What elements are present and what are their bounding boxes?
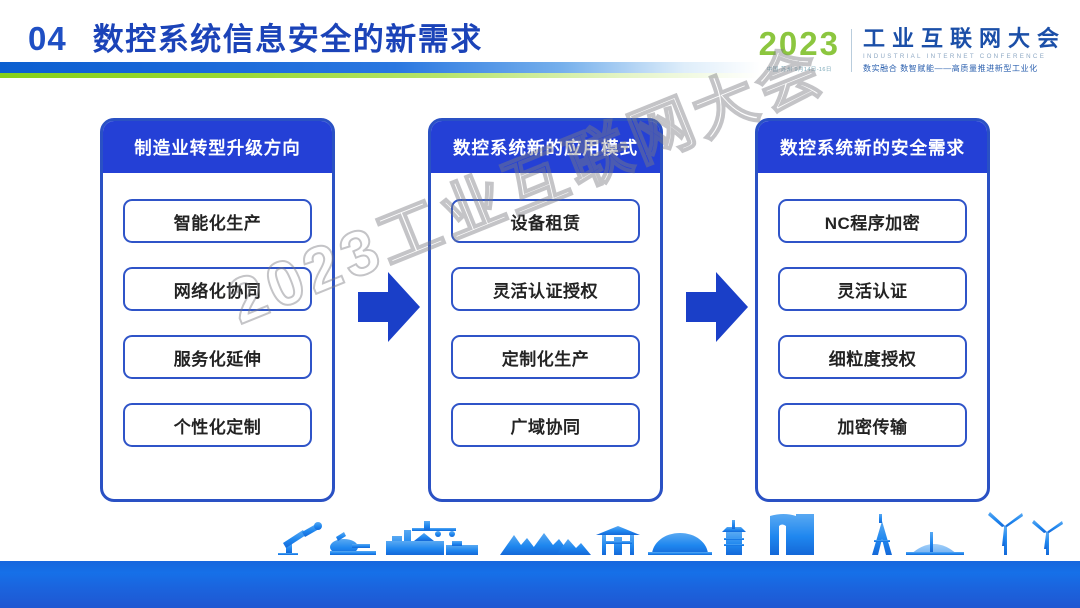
flow-column-1-body: 智能化生产 网络化协同 服务化延伸 个性化定制 xyxy=(103,173,332,447)
flow-item[interactable]: 服务化延伸 xyxy=(123,335,312,379)
flow-item-label: 加密传输 xyxy=(838,413,908,438)
city-skyline-icon xyxy=(0,510,1080,562)
logo-year-block: 2023 中国·苏州 9月14日-16日 xyxy=(759,27,851,73)
flow-item-label: NC程序加密 xyxy=(825,209,921,234)
flow-item[interactable]: 广域协同 xyxy=(451,403,640,447)
flow-item[interactable]: 定制化生产 xyxy=(451,335,640,379)
flow-column-3-header: 数控系统新的安全需求 xyxy=(758,121,987,173)
page-title: 数控系统信息安全的新需求 xyxy=(93,14,483,59)
flow-item-label: 定制化生产 xyxy=(502,345,590,370)
flow-item[interactable]: 网络化协同 xyxy=(123,267,312,311)
arrow-right-icon xyxy=(358,270,420,344)
flow-item[interactable]: 个性化定制 xyxy=(123,403,312,447)
flow-item[interactable]: NC程序加密 xyxy=(778,199,967,243)
flow-item[interactable]: 灵活认证 xyxy=(778,267,967,311)
flow-column-1-title: 制造业转型升级方向 xyxy=(134,135,301,160)
flow-item-label: 广域协同 xyxy=(511,413,581,438)
logo-date: 中国·苏州 9月14日-16日 xyxy=(767,65,832,73)
flow-diagram: 制造业转型升级方向 智能化生产 网络化协同 服务化延伸 个性化定制 数控系统新的… xyxy=(0,118,1080,510)
slide-canvas: 04 数控系统信息安全的新需求 2023 中国·苏州 9月14日-16日 工业互… xyxy=(0,0,1080,608)
flow-column-1-header: 制造业转型升级方向 xyxy=(103,121,332,173)
flow-item[interactable]: 加密传输 xyxy=(778,403,967,447)
flow-item-label: 服务化延伸 xyxy=(174,345,262,370)
flow-item[interactable]: 设备租赁 xyxy=(451,199,640,243)
flow-item-label: 设备租赁 xyxy=(511,209,581,234)
logo-year: 2023 xyxy=(759,27,840,60)
flow-column-3: 数控系统新的安全需求 NC程序加密 灵活认证 细粒度授权 加密传输 xyxy=(755,118,990,502)
slide-footer-decoration xyxy=(0,513,1080,608)
flow-item-label: 智能化生产 xyxy=(174,209,262,234)
header-divider-blue xyxy=(0,62,760,73)
flow-column-2-header: 数控系统新的应用模式 xyxy=(431,121,660,173)
flow-column-1: 制造业转型升级方向 智能化生产 网络化协同 服务化延伸 个性化定制 xyxy=(100,118,335,502)
flow-column-2: 数控系统新的应用模式 设备租赁 灵活认证授权 定制化生产 广域协同 xyxy=(428,118,663,502)
flow-item[interactable]: 灵活认证授权 xyxy=(451,267,640,311)
water-band xyxy=(0,561,1080,608)
flow-column-2-body: 设备租赁 灵活认证授权 定制化生产 广域协同 xyxy=(431,173,660,447)
flow-item[interactable]: 细粒度授权 xyxy=(778,335,967,379)
logo-name-cn: 工业互联网大会 xyxy=(863,27,1066,50)
flow-column-3-title: 数控系统新的安全需求 xyxy=(780,135,965,160)
arrow-right-icon xyxy=(686,270,748,344)
title-row: 04 数控系统信息安全的新需求 xyxy=(28,14,483,59)
slide-header: 04 数控系统信息安全的新需求 2023 中国·苏州 9月14日-16日 工业互… xyxy=(0,0,1080,100)
flow-column-3-body: NC程序加密 灵活认证 细粒度授权 加密传输 xyxy=(758,173,987,447)
flow-column-2-title: 数控系统新的应用模式 xyxy=(453,135,638,160)
flow-item-label: 网络化协同 xyxy=(174,277,262,302)
logo-name-block: 工业互联网大会 INDUSTRIAL INTERNET CONFERENCE 数… xyxy=(852,27,1066,74)
logo-name-en: INDUSTRIAL INTERNET CONFERENCE xyxy=(863,53,1066,60)
flow-item-label: 灵活认证授权 xyxy=(493,277,598,302)
logo-slogan: 数实融合 数智赋能——高质量推进新型工业化 xyxy=(863,63,1066,74)
header-divider-green xyxy=(0,73,760,78)
flow-item[interactable]: 智能化生产 xyxy=(123,199,312,243)
section-number: 04 xyxy=(28,20,67,58)
conference-logo: 2023 中国·苏州 9月14日-16日 工业互联网大会 INDUSTRIAL … xyxy=(759,27,1066,74)
flow-item-label: 个性化定制 xyxy=(174,413,262,438)
flow-item-label: 细粒度授权 xyxy=(829,345,917,370)
flow-item-label: 灵活认证 xyxy=(838,277,908,302)
